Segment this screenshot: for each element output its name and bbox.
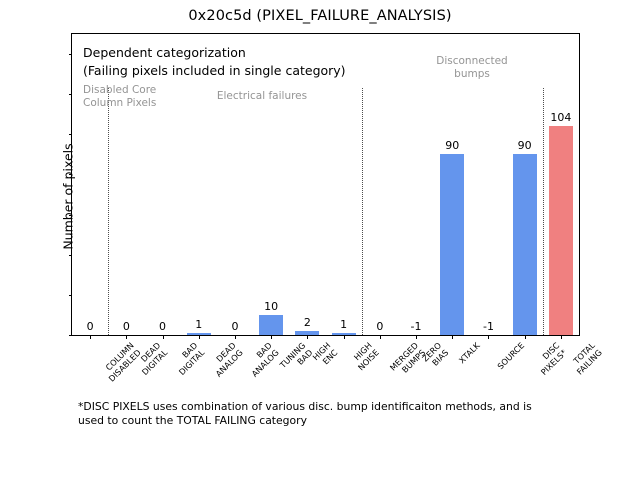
x-axis-tick-mark	[416, 335, 417, 339]
x-axis-tick-mark	[561, 335, 562, 339]
x-axis-tick-label: BAD ANALOG	[243, 341, 281, 379]
bar-value-label: 0	[123, 320, 130, 333]
x-axis-tick-label: XTALK	[458, 341, 483, 366]
bar	[549, 126, 573, 335]
x-axis-tick-label: ZERO BIAS	[421, 341, 451, 371]
bar	[513, 154, 537, 335]
x-axis-tick-mark	[271, 335, 272, 339]
y-axis-label: Number of pixels	[61, 0, 76, 407]
annotation-heading-line2: (Failing pixels included in single categ…	[83, 62, 346, 79]
bar-value-label: 10	[264, 300, 278, 313]
bar-value-label: -1	[411, 320, 422, 333]
annotation-group-electrical: Electrical failures	[217, 90, 307, 103]
bar-value-label: 0	[376, 320, 383, 333]
group-divider-line	[543, 88, 544, 335]
x-axis-tick-label: DISC PIXELS*	[532, 341, 568, 377]
bar	[332, 333, 356, 335]
bar-value-label: 104	[550, 111, 571, 124]
bar	[187, 333, 211, 335]
chart-title: 0x20c5d (PIXEL_FAILURE_ANALYSIS)	[0, 8, 640, 24]
x-axis-tick-mark	[344, 335, 345, 339]
x-axis-tick-label: BAD DIGITAL	[170, 341, 206, 377]
x-axis-tick-label: TOTAL FAILING	[568, 341, 604, 377]
x-axis-tick-mark	[163, 335, 164, 339]
bar	[295, 331, 319, 335]
bar	[259, 315, 283, 335]
annotation-group-disabled-core: Disabled Core Column Pixels	[83, 84, 156, 109]
x-axis-tick-label: HIGH ENC	[312, 341, 340, 369]
x-axis-tick-mark	[452, 335, 453, 339]
bar	[440, 154, 464, 335]
x-axis-tick-mark	[307, 335, 308, 339]
bar-value-label: 0	[87, 320, 94, 333]
bar-value-label: 2	[304, 316, 311, 329]
x-axis-tick-mark	[90, 335, 91, 339]
x-axis-tick-mark	[235, 335, 236, 339]
x-axis-tick-mark	[126, 335, 127, 339]
x-axis-tick-label: MERGED BUMPS	[388, 341, 427, 380]
bar-value-label: 90	[445, 139, 459, 152]
x-axis-tick-label: TUNING BAD	[279, 341, 315, 377]
bar-value-label: 90	[518, 139, 532, 152]
bar-value-label: 0	[231, 320, 238, 333]
figure-canvas: 0x20c5d (PIXEL_FAILURE_ANALYSIS) 0204060…	[0, 0, 640, 480]
x-axis-tick-mark	[199, 335, 200, 339]
group-divider-line	[108, 88, 109, 335]
x-axis-tick-mark	[488, 335, 489, 339]
group-divider-line	[362, 88, 363, 335]
bar-value-label: 0	[159, 320, 166, 333]
bar-value-label: -1	[483, 320, 494, 333]
bar-value-label: 1	[195, 318, 202, 331]
x-axis-tick-label: SOURCE	[496, 341, 527, 372]
x-axis-tick-label: DEAD DIGITAL	[134, 341, 170, 377]
x-axis-tick-label: DEAD ANALOG	[207, 341, 245, 379]
bar-value-label: 1	[340, 318, 347, 331]
plot-area: 0204060801001201400001010210-190-190104 …	[71, 33, 580, 336]
x-axis-tick-mark	[525, 335, 526, 339]
x-axis-tick-label: HIGH NOISE	[349, 341, 380, 372]
annotation-group-disconnected: Disconnected bumps	[436, 55, 507, 80]
x-axis-tick-mark	[380, 335, 381, 339]
footnote-text: *DISC PIXELS uses combination of various…	[78, 400, 568, 427]
annotation-heading-line1: Dependent categorization	[83, 44, 246, 61]
